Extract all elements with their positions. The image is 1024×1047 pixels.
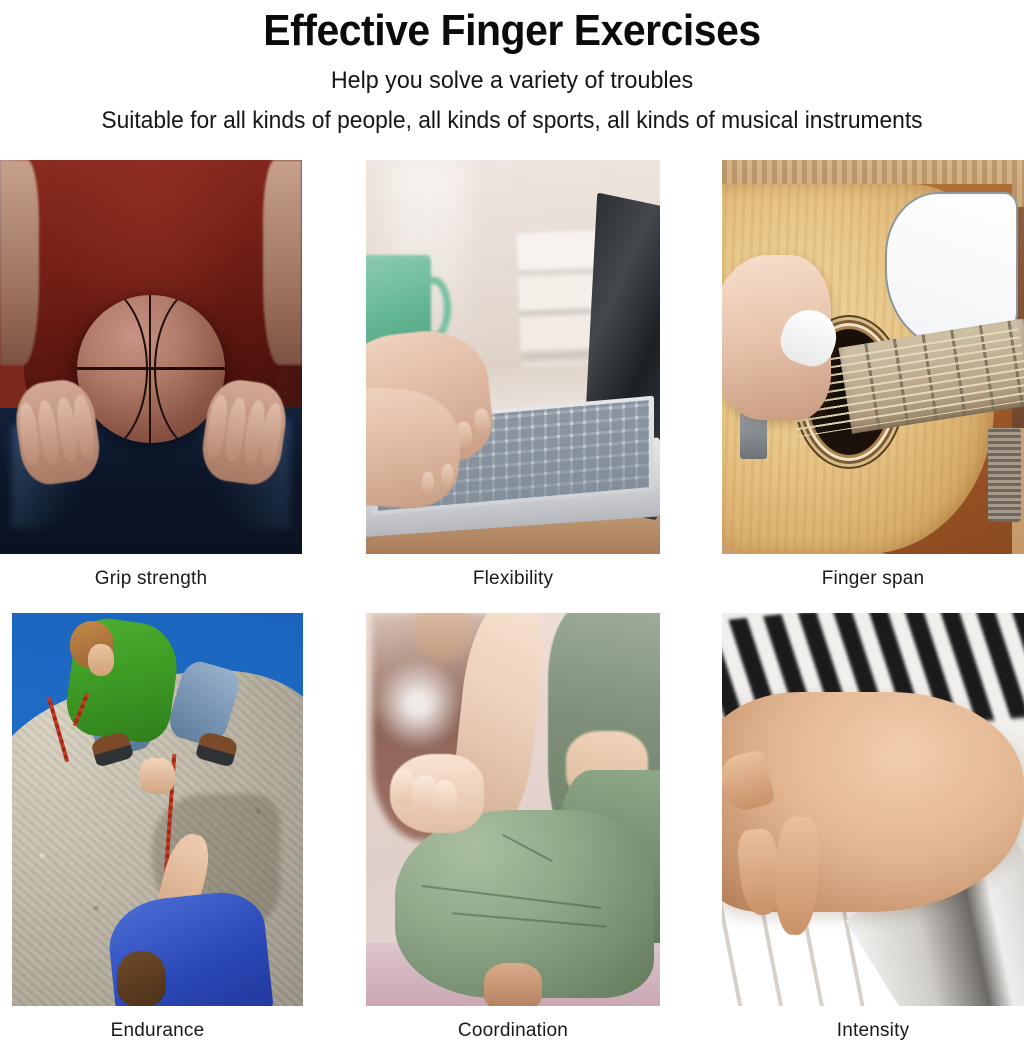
fabric-seam <box>422 885 602 909</box>
reaching-hand-upper <box>140 758 175 793</box>
page-header: Effective Finger Exercises Help you solv… <box>0 0 1024 138</box>
feature-caption-finger-span: Finger span <box>722 554 1024 591</box>
strap-button-shape <box>988 428 1021 523</box>
feature-caption-coordination: Coordination <box>366 1006 660 1043</box>
finger-shape <box>433 780 457 818</box>
right-arm-shape <box>263 160 302 365</box>
feature-grid: Grip strength <box>0 160 1024 1047</box>
upper-climber-face <box>88 644 114 675</box>
meditation-hand-shape <box>390 754 484 833</box>
rock-climbing-photo <box>12 613 303 1006</box>
feature-cell-coordination: Coordination <box>366 613 660 1043</box>
ball-seam-vertical <box>149 295 152 443</box>
product-feature-page: Effective Finger Exercises Help you solv… <box>0 0 1024 1047</box>
feature-cell-endurance: Endurance <box>12 613 303 1043</box>
feature-cell-intensity: Intensity <box>722 613 1024 1043</box>
feature-cell-flexibility: Flexibility <box>366 160 660 591</box>
basketball-shape <box>77 295 225 443</box>
left-arm-shape <box>0 160 39 365</box>
page-subtitle-primary: Help you solve a variety of troubles <box>15 58 1008 98</box>
feature-caption-endurance: Endurance <box>12 1006 303 1043</box>
finger-shape <box>440 463 454 487</box>
piano-photo <box>722 613 1024 1006</box>
guitar-photo <box>722 160 1024 554</box>
fabric-seam <box>453 912 608 928</box>
feature-caption-grip-strength: Grip strength <box>0 554 302 591</box>
finger-shape <box>420 471 434 495</box>
bare-foot-shape <box>484 963 543 1006</box>
feature-caption-flexibility: Flexibility <box>366 554 660 591</box>
feature-cell-grip-strength: Grip strength <box>0 160 302 591</box>
feature-cell-finger-span: Finger span <box>722 160 1024 591</box>
feature-row: Endurance <box>0 613 1024 1047</box>
lower-climber-head <box>117 951 166 1006</box>
laptop-typing-photo <box>366 160 660 554</box>
finger-shape <box>473 408 490 436</box>
page-subtitle-secondary: Suitable for all kinds of people, all ki… <box>26 98 999 138</box>
fabric-seam <box>502 834 553 862</box>
yoga-meditation-photo <box>366 613 660 1006</box>
feature-caption-intensity: Intensity <box>722 1006 1024 1043</box>
basketball-photo <box>0 160 302 554</box>
feature-row: Grip strength <box>0 160 1024 610</box>
page-title: Effective Finger Exercises <box>36 0 988 58</box>
